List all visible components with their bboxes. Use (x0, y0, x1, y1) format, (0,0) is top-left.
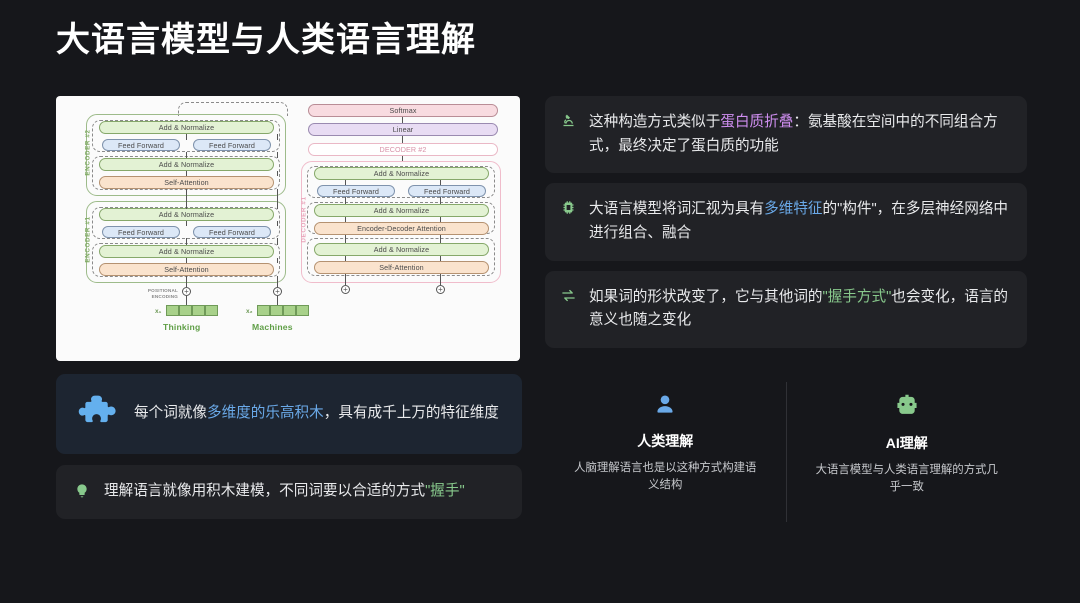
tick (277, 152, 278, 158)
left-column: ENCODER #2 Add & Normalize Feed Forward … (56, 96, 522, 519)
encoder1-add-normalize-bottom: Add & Normalize (99, 245, 274, 258)
tick (186, 221, 187, 226)
encoder2-self-attention: Self-Attention (99, 176, 274, 189)
multidimensional-features-text: 大语言模型将词汇视为具有多维特征的"构件"，在多层神经网络中进行组合、融合 (589, 198, 1009, 245)
decoder1-add-normalize-2: Add & Normalize (314, 204, 489, 217)
encoder-2-label: ENCODER #2 (85, 123, 92, 183)
handshake-modeling-text: 理解语言就像用积木建模，不同词要以合适的方式"握手" (104, 480, 504, 504)
decoder-plus-2: + (436, 285, 445, 294)
decoder-plus-1: + (341, 285, 350, 294)
encoder1-feed-forward-right: Feed Forward (193, 226, 271, 238)
encoder2-add-normalize-bottom: Add & Normalize (99, 158, 274, 171)
tick (440, 197, 441, 204)
tick (186, 189, 187, 209)
comparison-human: 人类理解 人脑理解语言也是以这种方式构建语义结构 (545, 382, 786, 522)
tick (345, 256, 346, 261)
encoder2-feed-forward-left: Feed Forward (102, 139, 180, 151)
comparison-ai: AI理解 大语言模型与人类语言理解的方式几乎一致 (786, 382, 1028, 522)
tick (186, 276, 187, 287)
tick (402, 136, 403, 143)
tick (186, 238, 187, 245)
encoder1-self-attention: Self-Attention (99, 263, 274, 276)
embedding-bar-1 (166, 305, 218, 316)
protein-folding-card: 这种构造方式类似于蛋白质折叠：氨基酸在空间中的不同组合方式，最终决定了蛋白质的功… (545, 96, 1027, 173)
comparison-human-desc: 人脑理解语言也是以这种方式构建语义结构 (573, 460, 758, 494)
tick (345, 274, 346, 285)
tick (186, 171, 187, 176)
multidimensional-features-card: 大语言模型将词汇视为具有多维特征的"构件"，在多层神经网络中进行组合、融合 (545, 183, 1027, 260)
tick (402, 156, 403, 161)
tick (440, 274, 441, 285)
positional-encoding-label: POSITIONAL ENCODING (128, 288, 178, 299)
lego-analogy-card: 每个词就像多维度的乐高积木，具有成千上万的特征维度 (56, 374, 522, 454)
tick (402, 117, 403, 123)
decoder1-add-normalize-1: Add & Normalize (314, 167, 489, 180)
tick (345, 217, 346, 222)
puzzle-piece-icon (76, 392, 120, 436)
encoder1-feed-forward-left: Feed Forward (102, 226, 180, 238)
slide-root: 大语言模型与人类语言理解 ENCODER #2 Add & Normalize … (0, 0, 1080, 603)
encoder2-add-normalize-top: Add & Normalize (99, 121, 274, 134)
comparison-ai-desc: 大语言模型与人类语言理解的方式几乎一致 (814, 462, 999, 496)
handshake-modeling-card: 理解语言就像用积木建模，不同词要以合适的方式"握手" (56, 465, 522, 519)
tick (277, 189, 278, 209)
tick (440, 256, 441, 261)
decoder1-feed-forward-right: Feed Forward (408, 185, 486, 197)
tick (440, 235, 441, 243)
tick (186, 258, 187, 263)
handshake-change-card: 如果词的形状改变了，它与其他词的"握手方式"也会变化，语言的意义也随之变化 (545, 271, 1027, 348)
tick (277, 258, 278, 263)
softmax-block: Softmax (308, 104, 498, 117)
decoder1-add-normalize-3: Add & Normalize (314, 243, 489, 256)
linear-block: Linear (308, 123, 498, 136)
input-word-2: Machines (252, 322, 293, 332)
tick (277, 171, 278, 176)
right-column: 这种构造方式类似于蛋白质折叠：氨基酸在空间中的不同组合方式，最终决定了蛋白质的功… (545, 96, 1027, 358)
page-title: 大语言模型与人类语言理解 (56, 18, 476, 62)
tick (186, 296, 187, 305)
robot-head-icon (893, 392, 921, 420)
tick (277, 238, 278, 245)
positional-plus-2: + (273, 287, 282, 296)
decoder-2-stub: DECODER #2 (308, 143, 498, 156)
comparison-ai-title: AI理解 (886, 433, 928, 453)
tick (345, 197, 346, 204)
comparison-human-title: 人类理解 (637, 431, 693, 451)
lightbulb-brain-icon (74, 480, 90, 499)
encoder1-add-normalize-top: Add & Normalize (99, 208, 274, 221)
input-word-1: Thinking (163, 322, 200, 332)
lego-analogy-text: 每个词就像多维度的乐高积木，具有成千上万的特征维度 (134, 402, 502, 426)
protein-folding-text: 这种构造方式类似于蛋白质折叠：氨基酸在空间中的不同组合方式，最终决定了蛋白质的功… (589, 111, 1009, 158)
tick (186, 134, 187, 140)
encoder2-feed-forward-right: Feed Forward (193, 139, 271, 151)
tick (277, 134, 278, 140)
tick (345, 235, 346, 243)
decoder1-encoder-decoder-attention: Encoder-Decoder Attention (314, 222, 489, 235)
tick (277, 276, 278, 287)
decoder1-feed-forward-left: Feed Forward (317, 185, 395, 197)
input-var-2: x₂ (246, 308, 253, 315)
encoder-1-label: ENCODER #1 (85, 210, 92, 270)
tick (277, 296, 278, 305)
microscope-icon (561, 111, 576, 128)
embedding-bar-2 (257, 305, 309, 316)
tick (440, 180, 441, 185)
tick (186, 152, 187, 158)
exchange-arrows-icon (561, 286, 576, 303)
positional-plus-1: + (182, 287, 191, 296)
comparison-section: 人类理解 人脑理解语言也是以这种方式构建语义结构 AI理解 大语言模型与人类语言… (545, 382, 1027, 522)
tick (440, 217, 441, 222)
cpu-chip-icon (561, 198, 576, 215)
person-icon (652, 392, 678, 418)
tick (277, 221, 278, 226)
handshake-change-text: 如果词的形状改变了，它与其他词的"握手方式"也会变化，语言的意义也随之变化 (589, 286, 1009, 333)
input-var-1: x₁ (155, 308, 161, 315)
decoder1-self-attention: Self-Attention (314, 261, 489, 274)
transformer-diagram: ENCODER #2 Add & Normalize Feed Forward … (56, 96, 520, 361)
tick (345, 180, 346, 185)
